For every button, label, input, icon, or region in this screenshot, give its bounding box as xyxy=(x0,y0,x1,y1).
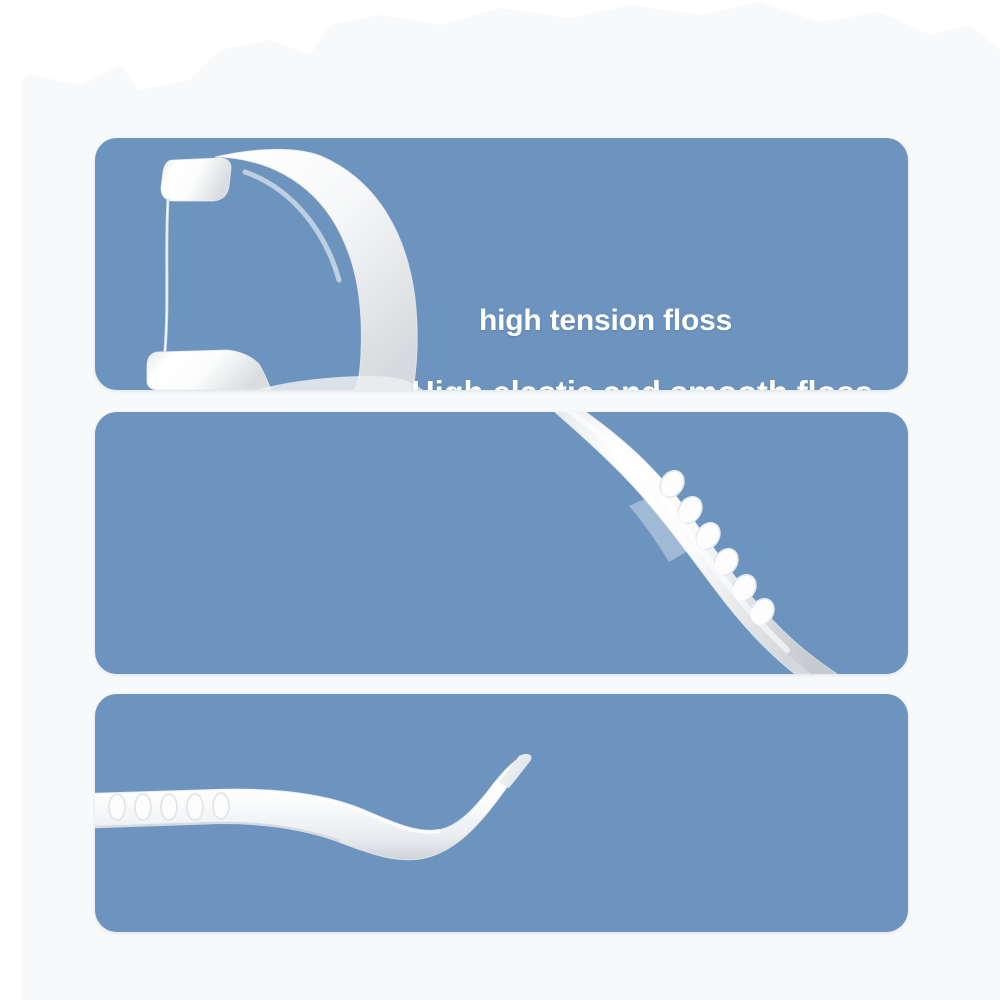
feature-panel-tail-design: tail design Tail for easy cleaning betwe… xyxy=(95,694,908,932)
panel-heading: high tension floss xyxy=(479,304,732,338)
floss-pick-tail-illustration xyxy=(95,694,908,932)
feature-panel-handle-design: handle design Intimate radian, non-slip … xyxy=(95,412,908,674)
feature-panel-high-tension-floss: high tension floss High elastic and smoo… xyxy=(95,138,908,390)
panel-body-line: High elastic and smooth floss xyxy=(411,374,873,390)
background-left-strip xyxy=(0,0,22,1000)
infographic-canvas: high tension floss High elastic and smoo… xyxy=(0,0,1000,1000)
floss-pick-fork-illustration xyxy=(95,138,908,390)
floss-pick-handle-illustration xyxy=(95,412,908,674)
